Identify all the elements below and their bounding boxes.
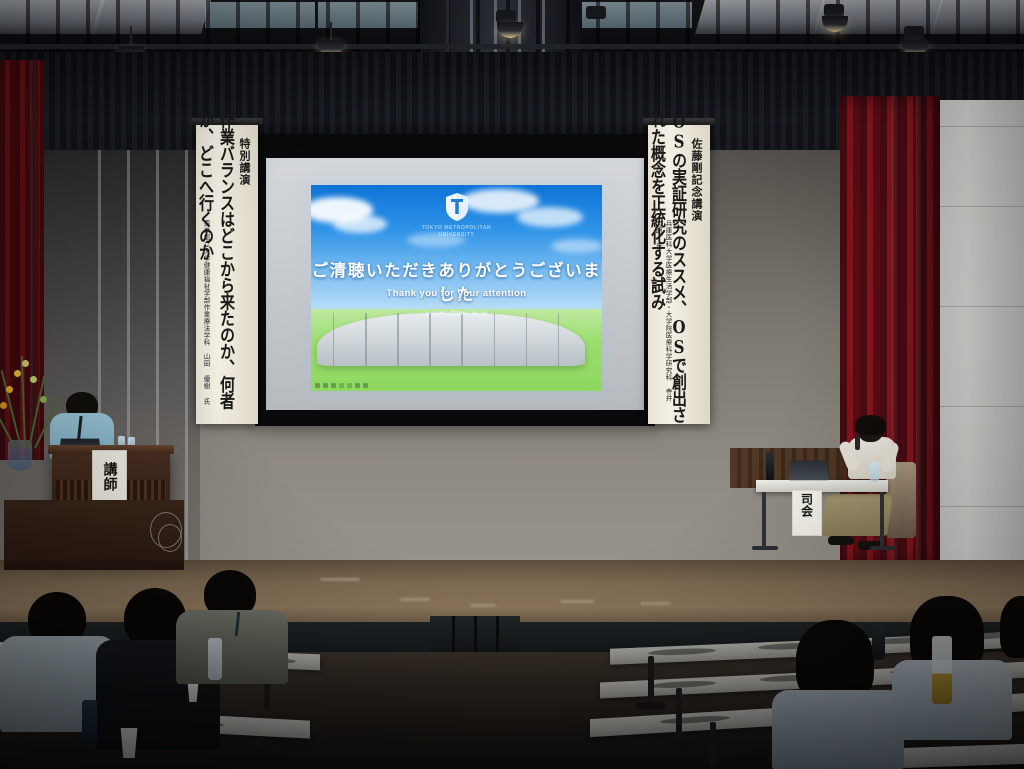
podium-sign-lecturer: 講師 xyxy=(92,450,127,504)
tmu-logo-icon xyxy=(444,192,469,222)
slide-email: y-yama@tmu.ac.jp xyxy=(311,310,602,317)
banner-left-heading: 特別講演 xyxy=(236,138,252,186)
moderator-sign-text: 司会 xyxy=(799,493,816,517)
pen-icon[interactable] xyxy=(323,383,328,388)
grid-icon[interactable] xyxy=(347,383,352,388)
moderator-laptop xyxy=(789,461,829,481)
banner-left: 特別講演 作業バランスはどこから来たのか、何者か、どこへ行くのか 東京都立大学健… xyxy=(196,124,258,424)
moderator-shoe xyxy=(828,536,854,545)
lecture-hall-photo: TOKYO METROPOLITAN UNIVERSITY ご清聴いただきありが… xyxy=(0,0,1024,769)
menu-icon[interactable] xyxy=(339,383,344,388)
banner-right-heading: 佐藤剛記念講演 xyxy=(688,138,704,222)
slide-toolbar[interactable] xyxy=(315,383,368,388)
stainless-bottle xyxy=(208,638,222,680)
slide-concrete-wall xyxy=(317,313,585,367)
banner-right: 佐藤剛記念講演 OSの実証研究のススメ、OSで創出された概念を正統化する試み 兵… xyxy=(648,124,710,424)
laser-icon[interactable] xyxy=(331,383,336,388)
more-icon[interactable] xyxy=(363,383,368,388)
podium-sign-text: 講師 xyxy=(100,462,120,492)
cable-coil xyxy=(158,524,182,552)
water-bottle xyxy=(870,462,879,482)
slide-english-thanks: Thank you for your attention xyxy=(311,288,602,299)
moderator-hair xyxy=(855,415,886,435)
microphone xyxy=(855,436,860,450)
banner-left-affiliation: 東京都立大学健康福祉学部作業療法学科 山田 優樹 氏 xyxy=(201,220,211,416)
right-wall-panels xyxy=(930,100,1024,640)
zoom-icon[interactable] xyxy=(355,383,360,388)
stainless-bottle xyxy=(82,700,97,746)
moderator-table-sign: 司会 xyxy=(792,490,822,536)
thermos-bottle xyxy=(766,452,774,480)
banner-right-affiliation: 兵庫医科大学医療生活学部・大学院医療科学研究科 寺井 志朗 氏 xyxy=(653,220,673,416)
play-icon[interactable] xyxy=(315,383,320,388)
stainless-bottle xyxy=(872,624,885,660)
presentation-slide: TOKYO METROPOLITAN UNIVERSITY ご清聴いただきありが… xyxy=(311,185,602,391)
moderator-table xyxy=(756,480,888,492)
ceiling xyxy=(0,0,1024,58)
slide-logo-caption: TOKYO METROPOLITAN UNIVERSITY xyxy=(422,225,492,239)
tea-bottle xyxy=(932,636,952,704)
